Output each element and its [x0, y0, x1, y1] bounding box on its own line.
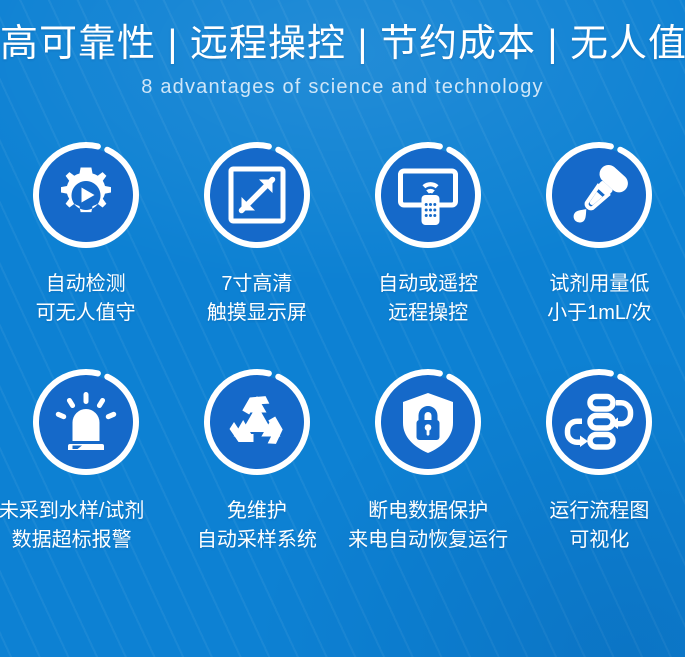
feature-caption-4-line1: 试剂用量低 — [549, 273, 649, 295]
feature-caption-8-line1: 运行流程图 — [549, 500, 649, 522]
header: 高可靠性 | 远程操控 | 节约成本 | 无人值守 8 advantages o… — [0, 0, 685, 100]
feature-caption-2-line1: 7寸高清 — [221, 273, 292, 295]
feature-caption-5-line2: 数据超标报警 — [0, 526, 144, 555]
features-grid: 自动检测 可无人值守 — [0, 138, 685, 555]
feature-item-2[interactable]: 7寸高清 触摸显示屏 — [171, 138, 342, 328]
feature-item-5[interactable]: 未采到水样/试剂 数据超标报警 — [0, 365, 171, 555]
feature-badge-4 — [542, 138, 656, 252]
page-subtitle: 8 advantages of science and technology — [0, 74, 685, 100]
feature-caption-5-line1: 未采到水样/试剂 — [0, 500, 144, 522]
feature-badge-1 — [29, 138, 143, 252]
feature-caption-7-line1: 断电数据保护 — [368, 500, 488, 522]
feature-caption-3-line2: 远程操控 — [378, 299, 478, 328]
feature-caption-3: 自动或遥控 远程操控 — [378, 270, 478, 328]
feature-badge-8 — [542, 365, 656, 479]
feature-caption-6: 免维护 自动采样系统 — [197, 497, 317, 555]
feature-item-1[interactable]: 自动检测 可无人值守 — [0, 138, 171, 328]
feature-caption-8-line2: 可视化 — [549, 526, 649, 555]
feature-item-7[interactable]: 断电数据保护 来电自动恢复运行 — [343, 365, 514, 555]
page-title: 高可靠性 | 远程操控 | 节约成本 | 无人值守 — [0, 20, 685, 68]
feature-caption-4: 试剂用量低 小于1mL/次 — [547, 270, 651, 328]
feature-badge-6 — [200, 365, 314, 479]
feature-caption-3-line1: 自动或遥控 — [378, 273, 478, 295]
badge-disc — [552, 375, 646, 469]
feature-caption-5: 未采到水样/试剂 数据超标报警 — [0, 497, 144, 555]
feature-caption-2: 7寸高清 触摸显示屏 — [207, 270, 307, 328]
feature-item-4[interactable]: 试剂用量低 小于1mL/次 — [514, 138, 685, 328]
feature-caption-8: 运行流程图 可视化 — [549, 497, 649, 555]
feature-item-3[interactable]: 自动或遥控 远程操控 — [343, 138, 514, 328]
poster-canvas: 高可靠性 | 远程操控 | 节约成本 | 无人值守 8 advantages o… — [0, 0, 685, 657]
feature-badge-5 — [29, 365, 143, 479]
feature-item-6[interactable]: 免维护 自动采样系统 — [171, 365, 342, 555]
feature-caption-2-line2: 触摸显示屏 — [207, 299, 307, 328]
feature-caption-1: 自动检测 可无人值守 — [36, 270, 136, 328]
feature-badge-7 — [371, 365, 485, 479]
feature-caption-1-line1: 自动检测 — [46, 273, 126, 295]
feature-caption-1-line2: 可无人值守 — [36, 299, 136, 328]
feature-caption-6-line2: 自动采样系统 — [197, 526, 317, 555]
feature-badge-2 — [200, 138, 314, 252]
feature-caption-7-line2: 来电自动恢复运行 — [348, 526, 508, 555]
feature-caption-7: 断电数据保护 来电自动恢复运行 — [348, 497, 508, 555]
feature-caption-4-line2: 小于1mL/次 — [547, 299, 651, 328]
feature-caption-6-line1: 免维护 — [227, 500, 287, 522]
features-row-1: 自动检测 可无人值守 — [0, 138, 685, 328]
feature-badge-3 — [371, 138, 485, 252]
features-row-2: 未采到水样/试剂 数据超标报警 — [0, 365, 685, 555]
feature-item-8[interactable]: 运行流程图 可视化 — [514, 365, 685, 555]
